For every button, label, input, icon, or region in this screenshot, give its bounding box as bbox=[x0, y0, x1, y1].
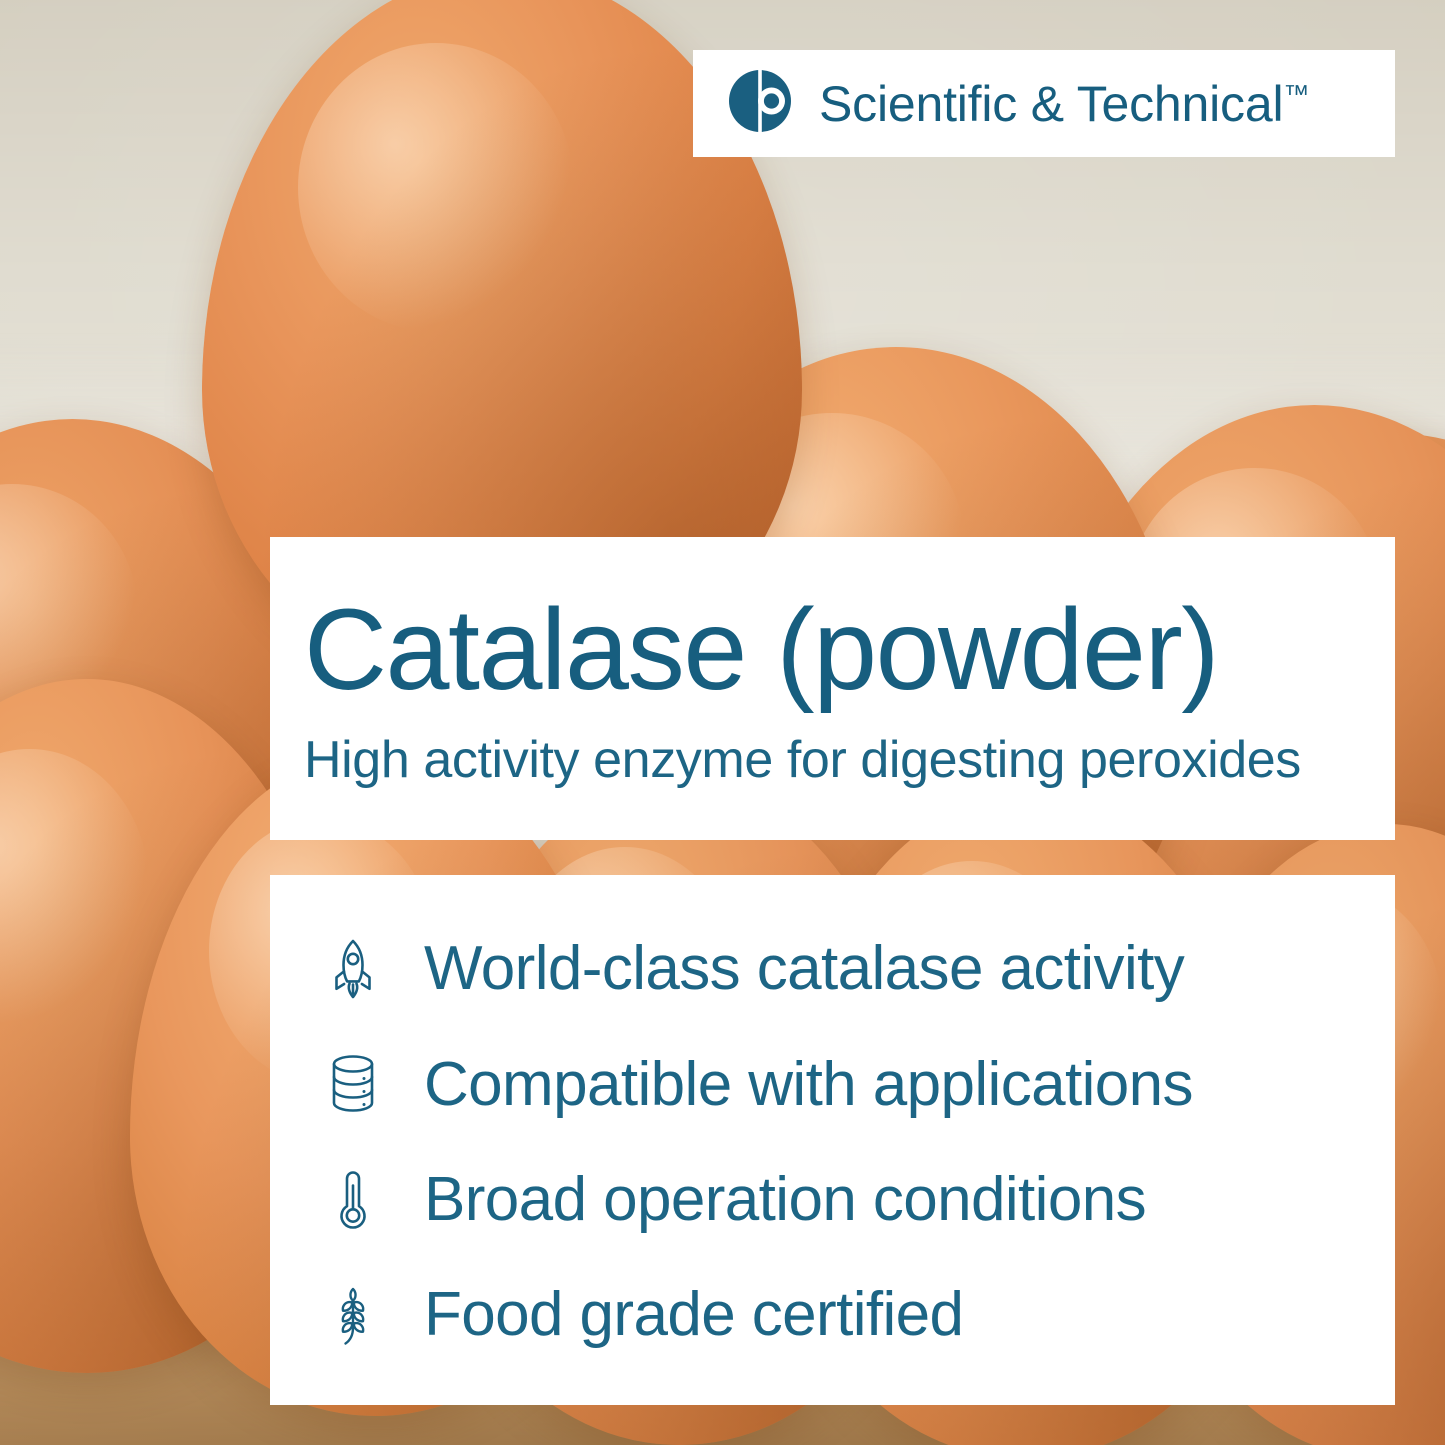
wheat-icon bbox=[322, 1279, 384, 1351]
trademark-symbol: ™ bbox=[1283, 79, 1309, 109]
feature-label: Compatible with applications bbox=[424, 1052, 1193, 1117]
brand-name: Scientific & Technical™ bbox=[819, 75, 1309, 133]
database-icon bbox=[322, 1048, 384, 1120]
feature-item-food-grade: Food grade certified bbox=[322, 1259, 1365, 1371]
feature-label: World-class catalase activity bbox=[424, 936, 1184, 1001]
title-panel: Catalase (powder) High activity enzyme f… bbox=[270, 537, 1395, 840]
page-subtitle: High activity enzyme for digesting perox… bbox=[304, 732, 1367, 789]
feature-item-activity: World-class catalase activity bbox=[322, 913, 1365, 1025]
product-poster: Scientific & Technical™ Catalase (powder… bbox=[0, 0, 1445, 1445]
brand-name-text: Scientific & Technical bbox=[819, 76, 1283, 132]
rocket-icon bbox=[322, 933, 384, 1005]
brand-logo-badge: Scientific & Technical™ bbox=[693, 50, 1395, 157]
thermometer-icon bbox=[322, 1164, 384, 1236]
features-panel: World-class catalase activity Compatible… bbox=[270, 875, 1395, 1405]
feature-label: Food grade certified bbox=[424, 1282, 963, 1347]
feature-item-conditions: Broad operation conditions bbox=[322, 1144, 1365, 1256]
page-title: Catalase (powder) bbox=[304, 592, 1367, 709]
split-circle-logo-icon bbox=[727, 68, 793, 139]
feature-item-compatibility: Compatible with applications bbox=[322, 1028, 1365, 1140]
feature-label: Broad operation conditions bbox=[424, 1167, 1146, 1232]
